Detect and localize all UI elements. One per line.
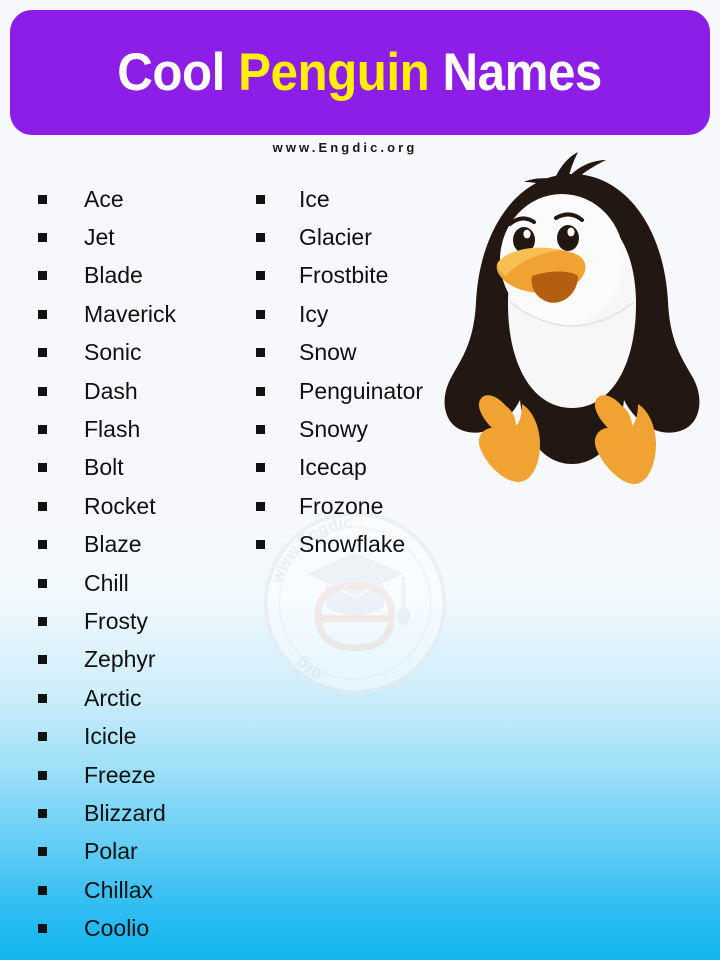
bullet-square-icon — [256, 502, 265, 511]
list-item[interactable]: Chill — [38, 564, 176, 602]
bullet-square-icon — [256, 195, 265, 204]
svg-text:.org: .org — [292, 653, 329, 686]
list-item[interactable]: Glacier — [256, 218, 423, 256]
list-item[interactable]: Snow — [256, 334, 423, 372]
bullet-square-icon — [38, 924, 47, 933]
list-item[interactable]: Blade — [38, 257, 176, 295]
list-item[interactable]: Sonic — [38, 334, 176, 372]
list-item[interactable]: Chillax — [38, 871, 176, 909]
list-item[interactable]: Flash — [38, 410, 176, 448]
list-item[interactable]: Frosty — [38, 602, 176, 640]
list-item[interactable]: Snowy — [256, 410, 423, 448]
bullet-square-icon — [256, 463, 265, 472]
list-item[interactable]: Bolt — [38, 449, 176, 487]
list-item[interactable]: Blizzard — [38, 794, 176, 832]
list-item[interactable]: Dash — [38, 372, 176, 410]
bullet-square-icon — [38, 809, 47, 818]
bullet-square-icon — [38, 425, 47, 434]
bullet-square-icon — [38, 886, 47, 895]
list-item[interactable]: Rocket — [38, 487, 176, 525]
list-item[interactable]: Arctic — [38, 679, 176, 717]
bullet-square-icon — [256, 348, 265, 357]
penguin-illustration — [428, 152, 716, 497]
bullet-square-icon — [256, 387, 265, 396]
bullet-square-icon — [256, 271, 265, 280]
page-title: Cool Penguin Names — [118, 46, 603, 99]
poster-page: Cool Penguin Names www.Engdic.org www.En… — [0, 0, 720, 960]
list-item[interactable]: Ace — [38, 180, 176, 218]
bullet-square-icon — [38, 617, 47, 626]
bullet-square-icon — [38, 387, 47, 396]
names-column-right: Ice Glacier Frostbite Icy Snow Penguinat… — [256, 180, 423, 564]
list-item[interactable]: Jet — [38, 218, 176, 256]
bullet-square-icon — [38, 348, 47, 357]
bullet-square-icon — [38, 310, 47, 319]
list-item[interactable]: Icy — [256, 295, 423, 333]
header-banner: Cool Penguin Names — [10, 10, 710, 135]
bullet-square-icon — [38, 847, 47, 856]
list-item[interactable]: Zephyr — [38, 641, 176, 679]
bullet-square-icon — [38, 540, 47, 549]
bullet-square-icon — [38, 732, 47, 741]
bullet-square-icon — [38, 195, 47, 204]
list-item[interactable]: Coolio — [38, 909, 176, 947]
list-item[interactable]: Frozone — [256, 487, 423, 525]
bullet-square-icon — [38, 771, 47, 780]
list-item[interactable]: Icicle — [38, 717, 176, 755]
list-item[interactable]: Freeze — [38, 756, 176, 794]
list-item[interactable]: Blaze — [38, 526, 176, 564]
bullet-square-icon — [256, 425, 265, 434]
list-item[interactable]: Snowflake — [256, 526, 423, 564]
bullet-square-icon — [38, 579, 47, 588]
bullet-square-icon — [38, 694, 47, 703]
bullet-square-icon — [256, 310, 265, 319]
names-column-left: Ace Jet Blade Maverick Sonic Dash Flash … — [38, 180, 176, 948]
list-item[interactable]: Maverick — [38, 295, 176, 333]
bullet-square-icon — [256, 233, 265, 242]
page-title-part-names: Names — [430, 43, 603, 102]
bullet-square-icon — [38, 655, 47, 664]
bullet-square-icon — [38, 233, 47, 242]
list-item[interactable]: Penguinator — [256, 372, 423, 410]
penguin-eye-right — [557, 225, 579, 251]
page-title-part-cool: Cool — [118, 43, 239, 102]
list-item[interactable]: Ice — [256, 180, 423, 218]
bullet-square-icon — [38, 271, 47, 280]
page-title-part-penguin: Penguin — [239, 43, 430, 102]
bullet-square-icon — [256, 540, 265, 549]
list-item[interactable]: Polar — [38, 833, 176, 871]
bullet-square-icon — [38, 463, 47, 472]
bullet-square-icon — [38, 502, 47, 511]
list-item[interactable]: Icecap — [256, 449, 423, 487]
list-item[interactable]: Frostbite — [256, 257, 423, 295]
